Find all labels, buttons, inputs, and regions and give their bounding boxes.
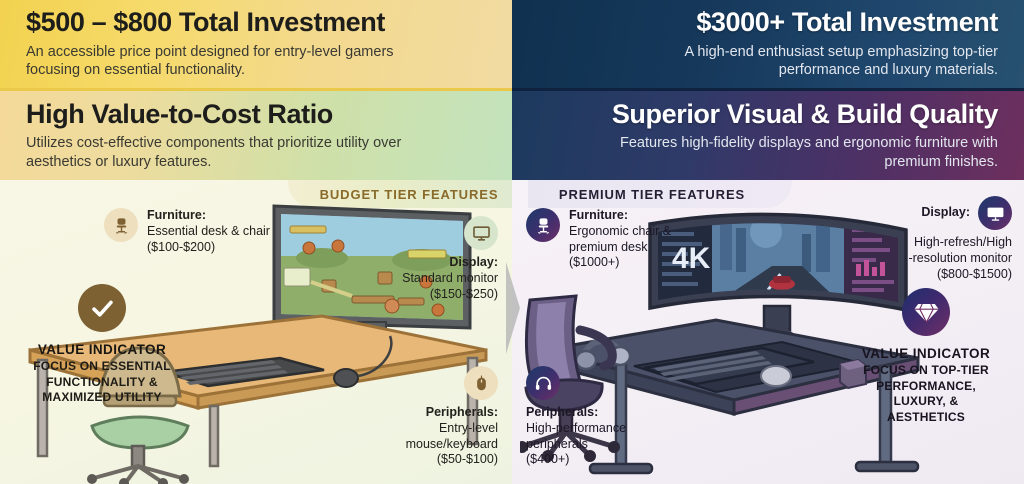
mouse-icon [464,366,498,400]
budget-value-subtitle: Utilizes cost-effective components that … [26,134,418,171]
premium-peripherals-line2: peripherals [526,437,588,451]
premium-display-label: Display: [921,205,970,221]
budget-furniture-line2: ($100-$200) [147,240,215,254]
premium-tier-column: $3000+ Total Investment A high-end enthu… [512,0,1024,484]
premium-feature-furniture[interactable]: Furniture: Ergonomic chair & premium des… [526,208,671,271]
budget-value-indicator: VALUE INDICATOR FOCUS ON ESSENTIAL FUNCT… [14,284,190,406]
premium-value-indicator-line1: FOCUS ON TOP-TIER [863,363,989,377]
budget-display-line1: Standard monitor [402,271,498,285]
budget-furniture-label: Furniture: [147,208,270,224]
premium-peripherals-line1: High-performance [526,421,626,435]
budget-value-indicator-title: VALUE INDICATOR [14,342,190,357]
premium-value-indicator-line4: AESTHETICS [887,410,965,424]
budget-peripherals-line1: Entry-level [439,421,498,435]
premium-investment-subtitle: A high-end enthusiast setup emphasizing … [606,43,998,80]
gaming-chair-icon [526,208,560,242]
premium-quality-subtitle: Features high-fidelity displays and ergo… [606,134,998,171]
budget-peripherals-line3: ($50-$100) [437,452,498,466]
office-chair-icon [104,208,138,242]
premium-peripherals-label: Peripherals: [526,405,626,421]
premium-peripherals-line3: ($400+) [526,452,569,466]
diamond-icon [902,288,950,336]
budget-display-label: Display: [402,255,498,271]
headset-icon [526,366,560,400]
budget-feature-peripherals[interactable]: Peripherals: Entry-level mouse/keyboard … [406,366,498,468]
premium-quality-band: Superior Visual & Build Quality Features… [512,88,1024,180]
premium-value-indicator-line3: LUXURY, & [894,394,959,408]
premium-display-line2: -resolution monitor [908,251,1012,265]
check-circle-icon [78,284,126,332]
budget-value-indicator-line2: FUNCTIONALITY & [46,375,157,389]
widescreen-monitor-icon [978,196,1012,230]
premium-display-line1: High-refresh/High [914,235,1012,249]
budget-value-band: High Value-to-Cost Ratio Utilizes cost-e… [0,88,512,180]
budget-value-indicator-line1: FOCUS ON ESSENTIAL [33,359,171,373]
budget-feature-display[interactable]: Display: Standard monitor ($150-$250) [402,216,498,302]
budget-feature-furniture[interactable]: Furniture: Essential desk & chair ($100-… [104,208,270,255]
budget-features-panel: BUDGET TIER FEATURES Furniture: [0,180,512,484]
premium-value-indicator-line2: PERFORMANCE, [876,379,976,393]
premium-quality-title: Superior Visual & Build Quality [612,100,998,128]
budget-display-line2: ($150-$250) [430,287,498,301]
premium-screen-4k-label: 4K [672,242,711,275]
premium-features-panel: 4K [512,180,1024,484]
budget-peripherals-label: Peripherals: [406,405,498,421]
budget-value-indicator-line3: MAXIMIZED UTILITY [42,390,161,404]
premium-investment-band: $3000+ Total Investment A high-end enthu… [512,0,1024,88]
budget-investment-title: $500 – $800 Total Investment [26,8,385,36]
budget-investment-band: $500 – $800 Total Investment An accessib… [0,0,512,88]
premium-value-indicator: VALUE INDICATOR FOCUS ON TOP-TIER PERFOR… [838,288,1014,425]
premium-furniture-line3: ($1000+) [569,255,619,269]
budget-value-title: High Value-to-Cost Ratio [26,100,333,128]
premium-feature-display[interactable]: Display: High-refresh/High -resolution m… [908,196,1012,282]
budget-tier-column: $500 – $800 Total Investment An accessib… [0,0,512,484]
premium-display-line3: ($800-$1500) [937,267,1012,281]
premium-furniture-label: Furniture: [569,208,671,224]
tier-comparison-infographic: $500 – $800 Total Investment An accessib… [0,0,1024,484]
premium-furniture-line1: Ergonomic chair & [569,224,671,238]
budget-peripherals-line2: mouse/keyboard [406,437,498,451]
premium-investment-title: $3000+ Total Investment [696,8,998,36]
premium-furniture-line2: premium desk [569,240,648,254]
budget-furniture-line1: Essential desk & chair [147,224,270,238]
budget-investment-subtitle: An accessible price point designed for e… [26,43,418,80]
tier-transition-arrow [506,262,532,354]
monitor-icon [464,216,498,250]
premium-value-indicator-title: VALUE INDICATOR [838,346,1014,361]
premium-feature-peripherals[interactable]: Peripherals: High-performance peripheral… [526,366,626,468]
